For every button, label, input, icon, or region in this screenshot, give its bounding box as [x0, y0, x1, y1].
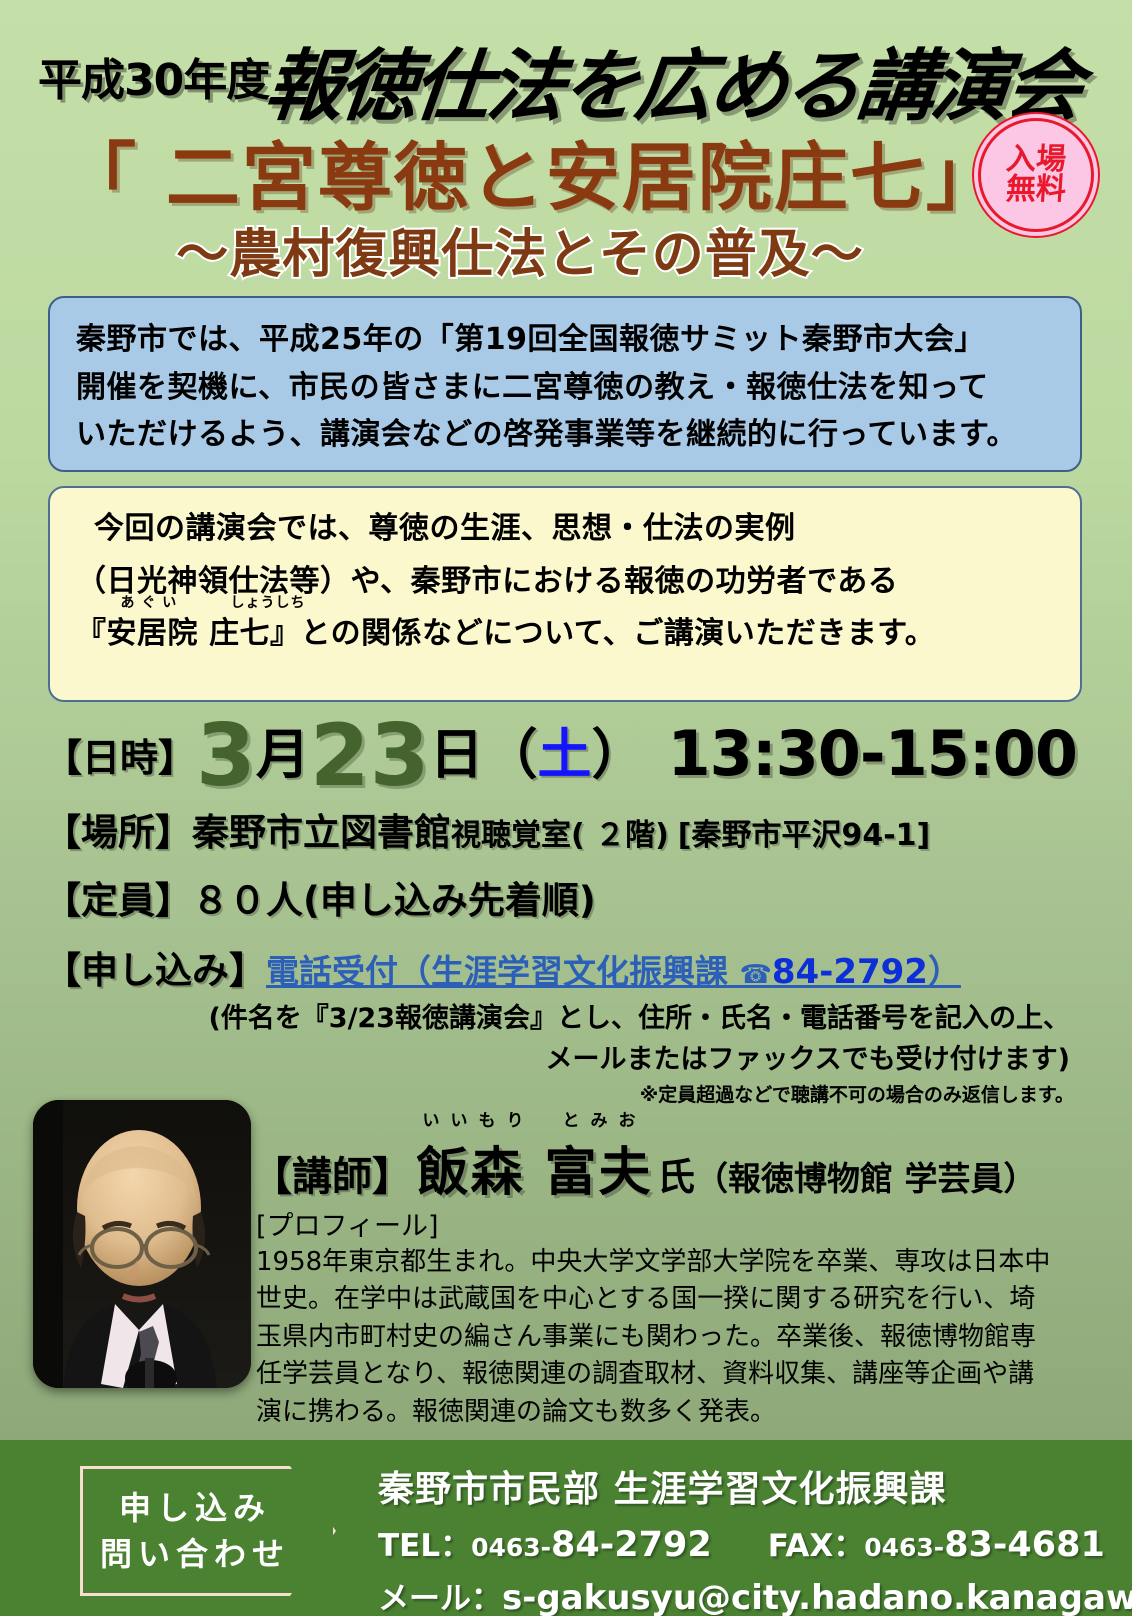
- content-box: 今回の講演会では、尊徳の生涯、思想・仕法の実例 （日光神領仕法等）や、秦野市にお…: [48, 486, 1082, 702]
- mail-address[interactable]: s-gakusyu@city.hadano.kanagawa.jp: [502, 1578, 1132, 1616]
- apply-tel-number: 84-2792: [772, 952, 928, 992]
- event-weekday: 土: [538, 723, 592, 786]
- apply-link-text: 電話受付（生涯学習文化振興課: [266, 952, 740, 991]
- poster-root: 平成30年度 報徳仕法を広める講演会 「 二宮尊徳と安居院庄七」 〜農村復興仕法…: [0, 0, 1132, 1616]
- content-line-3: 『あ ぐ いしょうしち安居院 庄七』との関係などについて、ご講演いただきます。: [76, 613, 1054, 656]
- speaker-affiliation: （報徳博物館 学芸員）: [695, 1159, 1037, 1198]
- poster-footer: 申し込み 問い合わせ 秦野市市民部 生涯学習文化振興課 TEL：0463-84-…: [0, 1440, 1132, 1616]
- apply-row: 【申し込み】電話受付（生涯学習文化振興課 ☎84-2792）: [0, 940, 1132, 994]
- capacity-label: 【定員】: [44, 879, 192, 922]
- weekday-paren-open: （: [484, 723, 538, 786]
- speaker-name-group: いいもり とみお 飯森 富夫: [416, 1130, 652, 1205]
- phone-icon: ☎: [740, 960, 772, 990]
- contact-department: 秦野市市民部 生涯学習文化振興課: [378, 1460, 1132, 1512]
- capacity-row: 【定員】８０人(申し込み先着順): [0, 870, 1132, 924]
- tel-label: TEL：: [378, 1528, 471, 1564]
- contact-badge-line-1: 申し込み: [119, 1485, 297, 1531]
- contact-mail-row: メール：s-gakusyu@city.hadano.kanagawa.jp: [378, 1573, 1132, 1616]
- lecture-theme: 「 二宮尊徳と安居院庄七」: [62, 118, 1002, 225]
- place-label: 【場所】: [44, 811, 192, 854]
- apply-note-1: (件名を『3/23報徳講演会』とし、住所・氏名・電話番号を記入の上、: [0, 996, 1132, 1035]
- profile-text: 1958年東京都生まれ。中央大学文学部大学院を卒業、専攻は日本中世史。在学中は武…: [256, 1244, 1056, 1431]
- poster-header: 平成30年度 報徳仕法を広める講演会 「 二宮尊徳と安居院庄七」 〜農村復興仕法…: [0, 0, 1132, 292]
- ruby-shoushichi: しょうしち: [231, 594, 394, 614]
- intro-line-3: いただけるよう、講演会などの啓発事業等を継続的に行っています。: [76, 415, 1054, 456]
- event-day: 23: [310, 706, 430, 806]
- fax-label: FAX：: [768, 1528, 865, 1564]
- place-address: [秦野市平沢94-1]: [678, 818, 931, 853]
- profile-label: [プロフィール]: [256, 1204, 439, 1243]
- speaker-label: 【講師】: [252, 1154, 412, 1200]
- content-quote-open: 『: [76, 616, 107, 651]
- agui-shoushichi-name: 安居院 庄七: [107, 616, 270, 651]
- content-line-3-rest: 』との関係などについて、ご講演いただきます。: [270, 616, 935, 651]
- event-month: 3: [196, 706, 256, 806]
- contact-details: 秦野市市民部 生涯学習文化振興課 TEL：0463-84-2792FAX：046…: [378, 1460, 1132, 1616]
- free-admission-badge: 入場 無料: [978, 118, 1094, 232]
- apply-link-close: ）: [928, 952, 961, 991]
- place-room: 視聴覚室( ２階): [451, 818, 669, 853]
- contact-arrow-badge: 申し込み 問い合わせ: [80, 1466, 336, 1596]
- intro-line-2: 開催を契機に、市民の皆さまに二宮尊徳の教え・報徳仕法を知って: [76, 368, 1054, 409]
- free-badge-line-2: 無料: [1005, 175, 1067, 205]
- event-details: 【日時】3月23日（土）13:30-15:00 【場所】秦野市立図書館視聴覚室(…: [0, 706, 1132, 1107]
- tel-area-code: 0463-: [471, 1533, 551, 1562]
- event-time: 13:30-15:00: [668, 717, 1077, 790]
- contact-tel-fax-row: TEL：0463-84-2792FAX：0463-83-4681: [378, 1520, 1132, 1565]
- capacity-value: ８０人(申し込み先着順): [192, 879, 596, 922]
- intro-box: 秦野市では、平成25年の「第19回全国報徳サミット秦野市大会」 開催を契機に、市…: [48, 296, 1082, 472]
- speaker-honorific: 氏: [657, 1155, 695, 1199]
- fax-number: 83-4681: [944, 1525, 1105, 1565]
- date-label: 【日時】: [44, 736, 196, 780]
- place-row: 【場所】秦野市立図書館視聴覚室( ２階) [秦野市平沢94-1]: [0, 802, 1132, 856]
- month-char: 月: [256, 723, 310, 786]
- ruby-iimori: いいもり: [422, 1106, 534, 1131]
- speaker-name: 飯森 富夫: [416, 1143, 652, 1203]
- aguisyoushichi-ruby-group: あ ぐ いしょうしち安居院 庄七: [107, 613, 270, 656]
- lecture-subtitle: 〜農村復興仕法とその普及〜: [0, 212, 1040, 287]
- speaker-section: 【講師】 いいもり とみお 飯森 富夫 氏（報徳博物館 学芸員） [プロフィール…: [0, 1092, 1132, 1422]
- contact-badge-line-2: 問い合わせ: [100, 1531, 316, 1577]
- tel-number: 84-2792: [551, 1525, 712, 1565]
- date-row: 【日時】3月23日（土）13:30-15:00: [0, 706, 1132, 798]
- intro-line-1: 秦野市では、平成25年の「第19回全国報徳サミット秦野市大会」: [76, 320, 1054, 361]
- content-line-1: 今回の講演会では、尊徳の生涯、思想・仕法の実例: [76, 508, 1054, 551]
- speaker-photo: [33, 1100, 251, 1388]
- fax-area-code: 0463-: [864, 1533, 944, 1562]
- apply-label: 【申し込み】: [44, 949, 266, 992]
- weekday-paren-close: ）: [592, 723, 646, 786]
- free-badge-line-1: 入場: [1005, 145, 1067, 175]
- ruby-tomio: とみお: [562, 1106, 646, 1131]
- apply-note-2: メールまたはファックスでも受け付けます): [0, 1037, 1132, 1076]
- mail-label: メール：: [378, 1581, 502, 1616]
- day-char: 日: [430, 723, 484, 786]
- place-venue: 秦野市立図書館: [192, 811, 451, 854]
- fiscal-year-label: 平成30年度: [38, 44, 269, 108]
- apply-phone-link[interactable]: 電話受付（生涯学習文化振興課 ☎84-2792）: [266, 952, 961, 991]
- speaker-name-row: 【講師】 いいもり とみお 飯森 富夫 氏（報徳博物館 学芸員）: [252, 1130, 1037, 1205]
